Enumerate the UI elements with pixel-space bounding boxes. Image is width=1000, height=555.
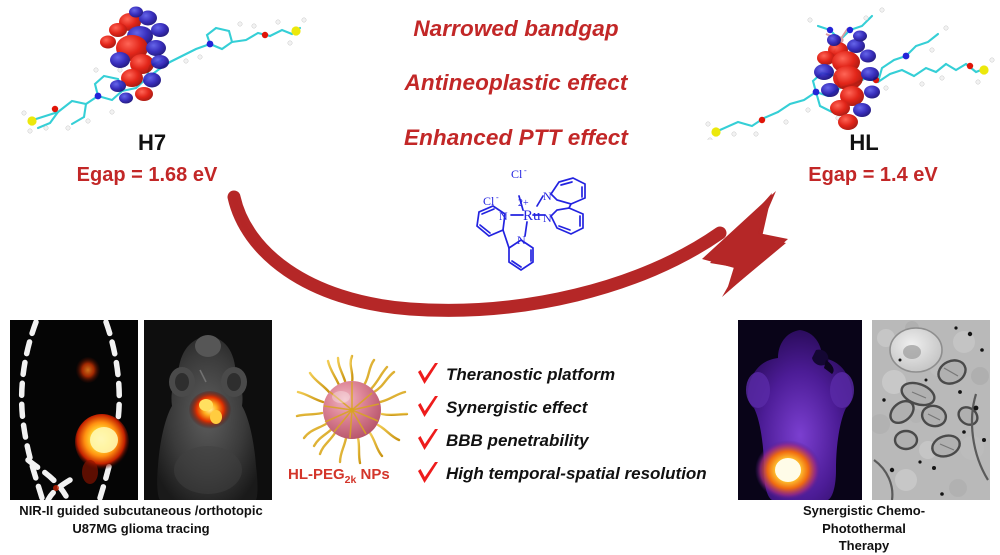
checklist-item: Theranostic platform [416, 358, 736, 391]
molecule-egap-left: Egap = 1.68 eV [77, 164, 218, 187]
svg-text:-: - [524, 166, 527, 175]
caption-right: Synergistic Chemo-Photothermal Therapy [796, 502, 932, 555]
np-label-subscript: 2k [345, 474, 357, 486]
checklist-item: High temporal-spatial resolution [416, 457, 736, 490]
molecule-egap-right: Egap = 1.4 eV [808, 164, 938, 187]
checklist-item-label: Synergistic effect [446, 398, 587, 418]
svg-text:N: N [543, 189, 552, 203]
panel-nir-subcutaneous [10, 320, 138, 500]
np-label-prefix: HL-PEG [288, 466, 345, 483]
caption-left: NIR-II guided subcutaneous /orthotopic U… [19, 502, 262, 537]
headline-narrowed-bandgap: Narrowed bandgap [413, 16, 618, 42]
check-icon [416, 428, 440, 454]
checklist-item-label: High temporal-spatial resolution [446, 464, 707, 484]
molecular-orbital-hl [690, 0, 1000, 140]
headline-enhanced-ptt-effect: Enhanced PTT effect [404, 125, 628, 151]
molecular-orbital-h7 [0, 0, 330, 135]
np-label-suffix: NPs [356, 466, 389, 483]
check-icon [416, 461, 440, 487]
checklist-item: Synergistic effect [416, 391, 736, 424]
benefits-checklist: Theranostic platform Synergistic effect … [416, 358, 736, 490]
checklist-item: BBB penetrability [416, 424, 736, 457]
molecule-label-left: H7 [138, 130, 166, 156]
svg-text:Cl: Cl [483, 194, 495, 208]
panel-thermal-imaging [738, 320, 862, 500]
svg-text:N: N [543, 211, 552, 225]
headline-antineoplastic-effect: Antineoplastic effect [405, 70, 628, 96]
ruthenium-complex-structure: Ru N N N N Cl - Cl - 2+ [455, 158, 645, 283]
svg-text:-: - [496, 193, 499, 202]
panel-nir-orthotopic-brain [144, 320, 272, 500]
checklist-item-label: Theranostic platform [446, 365, 615, 385]
molecule-label-right: HL [849, 130, 878, 156]
svg-text:Cl: Cl [511, 167, 523, 181]
checklist-item-label: BBB penetrability [446, 431, 589, 451]
svg-text:N: N [499, 209, 508, 223]
svg-text:N: N [517, 233, 526, 247]
check-icon [416, 362, 440, 388]
svg-text:2+: 2+ [518, 198, 529, 209]
svg-text:Ru: Ru [523, 208, 541, 224]
check-icon [416, 395, 440, 421]
nanoparticle-illustration [292, 348, 412, 466]
panel-tem-micrograph [872, 320, 990, 500]
graphical-abstract: H7 Egap = 1.68 eV [0, 0, 1000, 538]
nanoparticle-label: HL-PEG2k NPs [288, 466, 390, 486]
